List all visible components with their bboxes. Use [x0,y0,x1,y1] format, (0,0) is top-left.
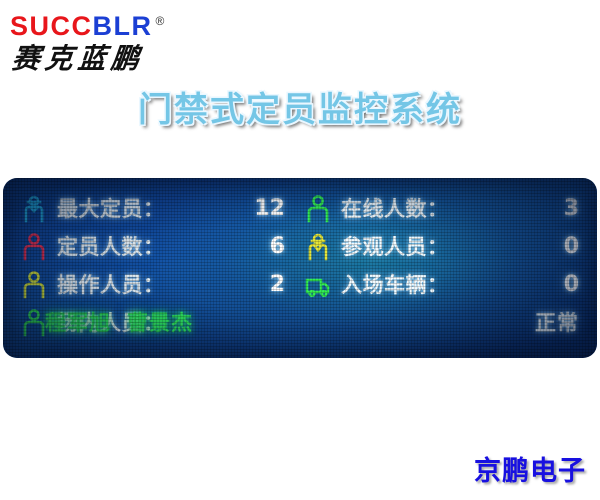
led-label-visitors: 参观人员： [341,234,449,260]
led-value-visitors: 0 [564,234,583,260]
logo-wordmark-succ: SUCC [10,11,93,41]
led-value-max-capacity: 12 [254,196,289,222]
led-value-registered-count: 6 [270,234,289,260]
page-title: 门禁式定员监控系统 [0,88,600,132]
led-row-registered-count: 定员人数： 6 [21,230,289,264]
led-label-operators: 操作人员： [57,272,165,298]
status-badge: 正常 [535,310,583,336]
led-value-operators: 2 [270,272,289,298]
onsite-name: 曹景杰 [127,311,193,335]
led-label-online-count: 在线人数： [341,196,449,222]
person-icon [21,271,47,299]
led-value-online-count: 3 [564,196,583,222]
onsite-name-list: 程军旭曹景杰 [45,310,193,336]
led-value-vehicles: 0 [564,272,583,298]
logo-chinese-name: 赛克蓝鹏 [10,43,273,75]
led-label-max-capacity: 最大定员： [57,196,165,222]
onsite-name: 程军旭 [45,311,111,335]
person-icon [305,195,331,223]
led-row-online-count: 在线人数： 3 [305,192,583,226]
led-row-operators: 操作人员： 2 [21,268,289,302]
watermark-brand: 京鹏电子 [474,456,586,488]
registered-trademark-icon: ® [156,14,165,28]
led-row-visitors: 参观人员： 0 [305,230,583,264]
logo-wordmark: SUCCBLR® [10,6,270,41]
led-row-vehicles: 入场车辆： 0 [305,268,583,302]
led-display-panel: 最大定员： 12 定员人数： 6 操作人员： 2 [3,178,597,358]
truck-icon [305,271,331,299]
led-row-onsite-names: 程军旭曹景杰 正常 [21,306,583,340]
company-logo: SUCCBLR® 赛克蓝鹏 [8,6,268,74]
led-label-registered-count: 定员人数： [57,234,165,260]
person-cap-icon [305,233,331,261]
logo-wordmark-blr: BLR [93,11,153,41]
led-content-grid: 最大定员： 12 定员人数： 6 操作人员： 2 [3,178,597,358]
person-icon [21,233,47,261]
person-cap-icon [21,195,47,223]
led-row-max-capacity: 最大定员： 12 [21,192,289,226]
led-label-vehicles: 入场车辆： [341,272,449,298]
